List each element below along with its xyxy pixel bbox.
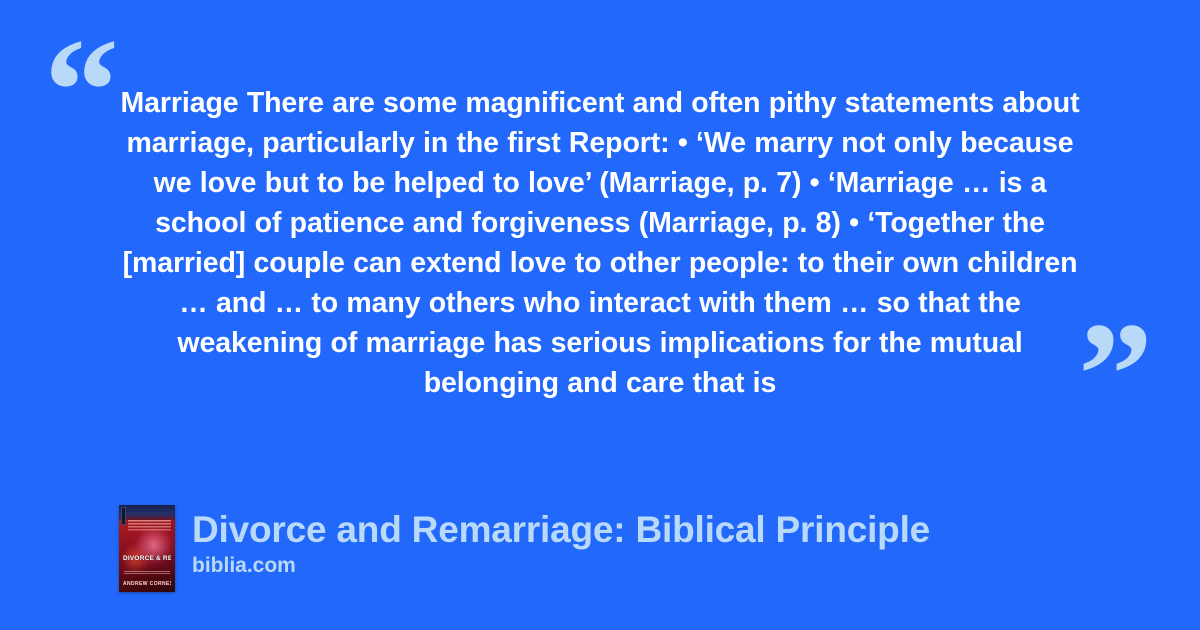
book-cover-top-band [119, 505, 175, 520]
quote-text: Marriage There are some magnificent and … [112, 83, 1088, 403]
footer-text-group: Divorce and Remarriage: Biblical Princip… [192, 505, 930, 579]
footer: DIVORCE & REMARRIAGE ANDREW CORNES Divor… [119, 505, 1119, 600]
book-cover-subtitle-lines [124, 571, 170, 575]
site-name: biblia.com [192, 553, 930, 579]
quote-card: “ Marriage There are some magnificent an… [0, 0, 1200, 630]
book-cover-author: ANDREW CORNES [123, 581, 171, 587]
book-cover-blurb-lines [128, 520, 171, 532]
closing-quote-mark-icon: ” [1078, 300, 1153, 450]
book-title: Divorce and Remarriage: Biblical Princip… [192, 507, 930, 552]
opening-quote-mark-icon: “ [44, 16, 119, 166]
book-cover-thumbnail: DIVORCE & REMARRIAGE ANDREW CORNES [119, 505, 175, 592]
book-cover-spine-mark [121, 507, 126, 525]
quote-area: “ Marriage There are some magnificent an… [0, 0, 1200, 470]
book-cover-title: DIVORCE & REMARRIAGE [123, 555, 171, 563]
